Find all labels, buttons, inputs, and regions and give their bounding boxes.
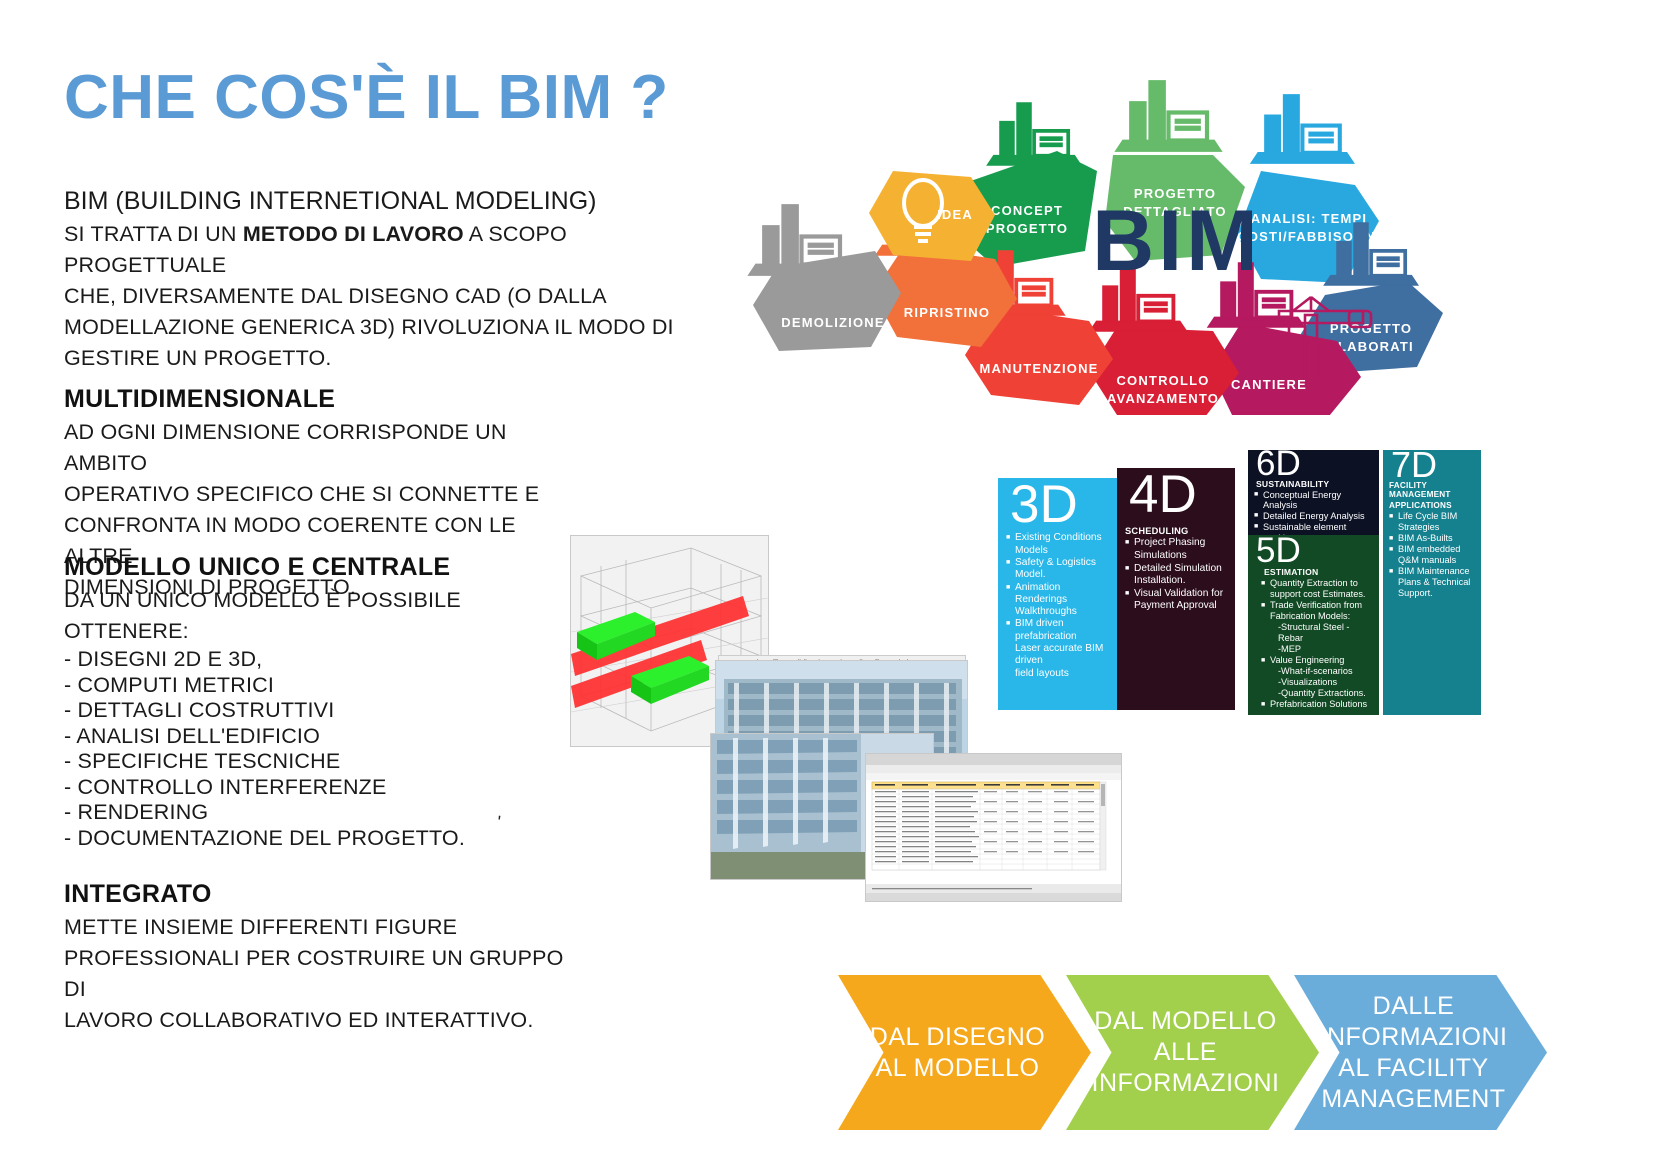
- list-item: - COMPUTI METRICI: [64, 673, 584, 699]
- project-images-stack: Case Study: Office Building / Curtain Wa…: [570, 535, 1150, 895]
- panel-7d-item: Strategies: [1389, 522, 1476, 533]
- svg-text:MANUTENZIONE: MANUTENZIONE: [979, 361, 1098, 376]
- panel-5d: 5D ESTIMATION Quantity Extraction to sup…: [1248, 535, 1379, 715]
- modello-line-2: OTTENERE:: [64, 616, 584, 647]
- panel-5d-number: 5D: [1256, 535, 1374, 567]
- chevron-3-line-4: MANAGEMENT: [1320, 1084, 1522, 1115]
- svg-text:ANALISI: TEMPI: ANALISI: TEMPI: [1251, 211, 1367, 226]
- chevron-dalle-informazioni-al-facility-management: DALLE INFORMAZIONI AL FACILITY MANAGEMEN…: [1294, 975, 1547, 1130]
- intro-line-1a: SI TRATTA DI UN: [64, 222, 243, 246]
- panel-6d: 6D SUSTAINABILITY Conceptual Energy Anal…: [1248, 450, 1379, 538]
- panel-5d-item: Trade Verification from: [1261, 600, 1374, 611]
- wheel-segment-controllo-avanzamento: CONTROLLO AVANZAMENTO: [1089, 267, 1239, 415]
- list-item: - DOCUMENTAZIONE DEL PROGETTO.: [64, 826, 584, 852]
- slide-canvas: CHE COS'È IL BIM ? BIM (BUILDING INTERNE…: [0, 0, 1654, 1169]
- chevron-3-line-2: INFORMAZIONI: [1320, 1022, 1522, 1053]
- svg-text:RIPRISTINO: RIPRISTINO: [904, 305, 990, 320]
- svg-text:IDEA: IDEA: [937, 207, 973, 222]
- panel-7d-item: Q&M manuals: [1389, 555, 1476, 566]
- panel-4d-number: 4D: [1129, 470, 1228, 520]
- chevron-3-line-3: AL FACILITY: [1320, 1053, 1522, 1084]
- panel-3d-number: 3D: [1010, 480, 1113, 530]
- chevron-dal-modello-alle-informazioni: DAL MODELLO ALLE INFORMAZIONI: [1066, 975, 1319, 1130]
- panel-5d-item: -Structural Steel - Rebar: [1261, 622, 1374, 644]
- panel-6d-item: Conceptual Energy Analysis: [1254, 490, 1374, 512]
- bim-center-label: BIM: [1092, 193, 1262, 289]
- panel-5d-item: -What-if-scenarios: [1261, 666, 1374, 677]
- intro-line-2: CHE, DIVERSAMENTE DAL DISEGNO CAD (O DAL…: [64, 281, 724, 312]
- intro-emphasis: METODO DI LAVORO: [243, 222, 464, 246]
- panel-5d-item: Value Engineering: [1261, 655, 1374, 666]
- section-heading-modello-unico: MODELLO UNICO E CENTRALE: [64, 553, 584, 582]
- svg-text:CONCEPT: CONCEPT: [991, 203, 1063, 218]
- panel-7d-item: Plans & Technical: [1389, 577, 1476, 588]
- panel-6d-number: 6D: [1256, 450, 1374, 479]
- list-item: - DETTAGLI COSTRUTTIVI: [64, 698, 584, 724]
- panel-5d-item: -Quantity Extractions.: [1261, 688, 1374, 699]
- intro-line-4: GESTIRE UN PROGETTO.: [64, 343, 724, 374]
- panel-5d-item: Prefabrication Solutions: [1261, 699, 1374, 710]
- list-item: - CONTROLLO INTERFERENZE: [64, 775, 584, 801]
- intro-lead: BIM (BUILDING INTERNETIONAL MODELING): [64, 185, 724, 218]
- list-item: - RENDERING: [64, 800, 584, 826]
- svg-text:CONTROLLO: CONTROLLO: [1116, 373, 1209, 388]
- chevron-3-line-1: DALLE: [1320, 991, 1522, 1022]
- section-integrato: INTEGRATO METTE INSIEME DIFFERENTI FIGUR…: [64, 880, 584, 1036]
- panel-7d-item: BIM Maintenance: [1389, 566, 1476, 577]
- list-item: - ANALISI DELL'EDIFICIO: [64, 724, 584, 750]
- panel-7d-number: 7D: [1391, 450, 1476, 481]
- panel-7d-item: BIM embedded: [1389, 544, 1476, 555]
- multi-line-1: AD OGNI DIMENSIONE CORRISPONDE UN AMBITO: [64, 417, 584, 479]
- process-flow-arrows: DAL DISEGNO AL MODELLO DAL MODELLO ALLE …: [838, 975, 1508, 1130]
- chevron-2-line-2: ALLE: [1092, 1037, 1294, 1068]
- panel-5d-subtitle: ESTIMATION: [1264, 567, 1374, 577]
- bim-lifecycle-wheel-diagram: CONCEPT PROGETTO PROGETTO DETTAGLIATO AN…: [665, 55, 1545, 415]
- integrato-line-2: PROFESSIONALI PER COSTRUIRE UN GRUPPO DI: [64, 943, 584, 1005]
- svg-text:AVANZAMENTO: AVANZAMENTO: [1107, 391, 1219, 406]
- panel-5d-item: -Visualizations: [1261, 677, 1374, 688]
- section-heading-multidimensionale: MULTIDIMENSIONALE: [64, 385, 584, 414]
- panel-5d-item: Quantity Extraction to: [1261, 578, 1374, 589]
- panel-6d-subtitle: SUSTAINABILITY: [1256, 479, 1374, 489]
- panel-7d: 7D FACILITY MANAGEMENT APPLICATIONS Life…: [1383, 450, 1481, 715]
- svg-text:PROGETTO: PROGETTO: [986, 221, 1068, 236]
- integrato-line-1: METTE INSIEME DIFFERENTI FIGURE: [64, 912, 584, 943]
- modello-line-1: DA UN UNICO MODELLO È POSSIBILE: [64, 585, 584, 616]
- chevron-1-line-2: AL MODELLO: [870, 1053, 1059, 1084]
- panel-6d-item: Detailed Energy Analysis: [1254, 511, 1374, 522]
- intro-line-3: MODELLAZIONE GENERICA 3D) RIVOLUZIONA IL…: [64, 312, 724, 343]
- panel-7d-item: Support.: [1389, 588, 1476, 599]
- quantity-takeoff-spreadsheet-image: [865, 753, 1122, 902]
- panel-5d-item: -MEP: [1261, 644, 1374, 655]
- chevron-2-line-1: DAL MODELLO: [1092, 1006, 1294, 1037]
- chevron-dal-disegno-al-modello: DAL DISEGNO AL MODELLO: [838, 975, 1091, 1130]
- page-title: CHE COS'È IL BIM ?: [64, 62, 669, 133]
- section-modello-unico: MODELLO UNICO E CENTRALE DA UN UNICO MOD…: [64, 553, 584, 851]
- panel-7d-subtitle-line-2: APPLICATIONS: [1389, 501, 1476, 511]
- svg-text:DEMOLIZIONE: DEMOLIZIONE: [781, 315, 884, 330]
- integrato-line-3: LAVORO COLLABORATIVO ED INTERATTIVO.: [64, 1005, 584, 1036]
- chevron-2-line-3: INFORMAZIONI: [1092, 1068, 1294, 1099]
- panel-7d-item: Life Cycle BIM: [1389, 511, 1476, 522]
- panel-7d-item: BIM As-Builts: [1389, 533, 1476, 544]
- intro-paragraph: BIM (BUILDING INTERNETIONAL MODELING) SI…: [64, 185, 724, 374]
- list-item: - SPECIFICHE TESCNICHE: [64, 749, 584, 775]
- section-heading-integrato: INTEGRATO: [64, 880, 584, 909]
- panel-5d-item: Fabrication Models:: [1261, 611, 1374, 622]
- svg-text:CANTIERE: CANTIERE: [1231, 377, 1307, 392]
- panel-5d-item: support cost Estimates.: [1261, 589, 1374, 600]
- chevron-1-line-1: DAL DISEGNO: [870, 1022, 1059, 1053]
- intro-line-1: SI TRATTA DI UN METODO DI LAVORO A SCOPO…: [64, 219, 724, 281]
- multi-line-2: OPERATIVO SPECIFICO CHE SI CONNETTE E: [64, 479, 584, 510]
- list-item: - DISEGNI 2D E 3D,: [64, 647, 584, 673]
